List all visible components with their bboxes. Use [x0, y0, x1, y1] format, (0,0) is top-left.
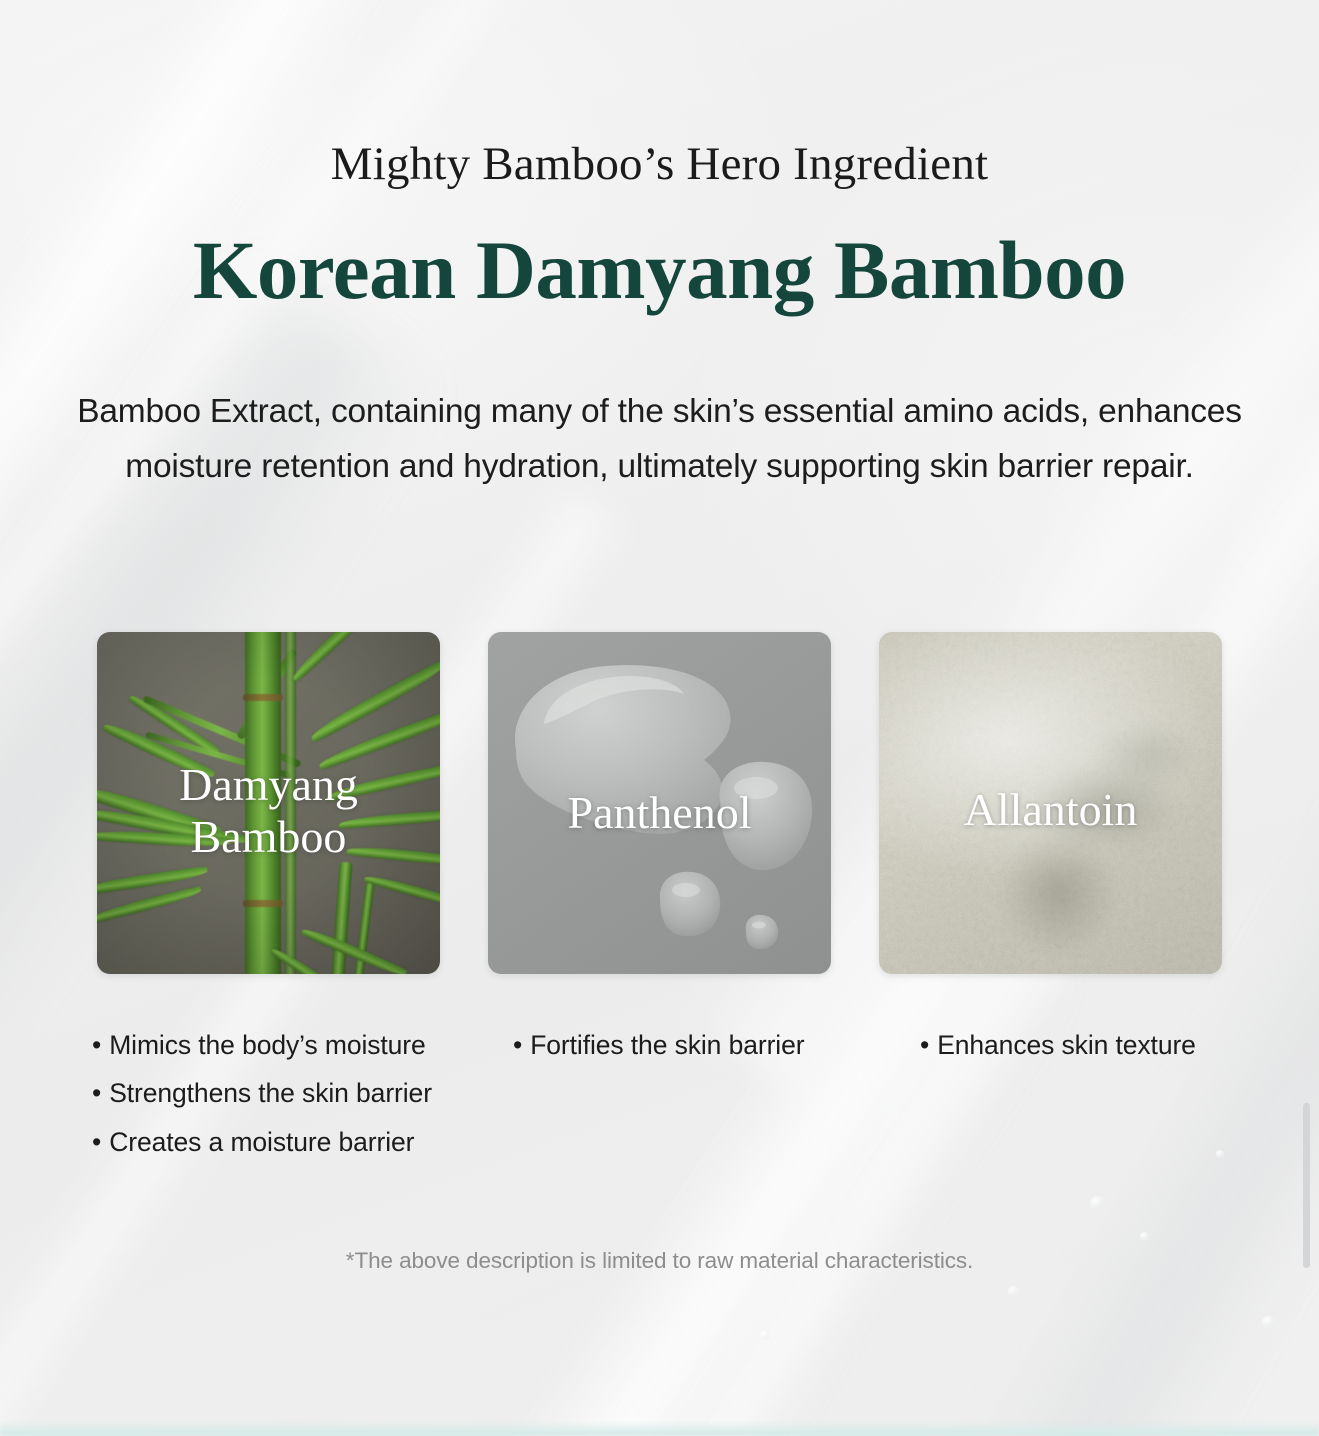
ingredient-card-row: Damyang Bamboo — [97, 632, 1223, 974]
list-item-label: Mimics the body’s moisture — [109, 1030, 426, 1060]
card-label-line1: Allantoin — [879, 784, 1222, 836]
ingredient-card-damyang-bamboo[interactable]: Damyang Bamboo — [97, 632, 440, 974]
card-label-line1: Damyang — [97, 759, 440, 811]
list-item: •Strengthens the skin barrier — [92, 1069, 432, 1117]
card-label-panthenol: Panthenol — [488, 787, 831, 839]
list-item: •Enhances skin texture — [920, 1021, 1196, 1069]
ingredient-card-allantoin[interactable]: Allantoin — [879, 632, 1222, 974]
card-label-damyang-bamboo: Damyang Bamboo — [97, 759, 440, 862]
list-item: •Creates a moisture barrier — [92, 1118, 432, 1166]
list-item-label: Fortifies the skin barrier — [530, 1030, 804, 1060]
benefit-list-allantoin: •Enhances skin texture — [920, 1021, 1196, 1069]
ingredient-card-panthenol[interactable]: Panthenol — [488, 632, 831, 974]
benefit-list-panthenol: •Fortifies the skin barrier — [513, 1021, 804, 1069]
disclaimer-footnote: *The above description is limited to raw… — [0, 1248, 1319, 1274]
list-item-label: Strengthens the skin barrier — [109, 1078, 432, 1108]
ingredient-section: Mighty Bamboo’s Hero Ingredient Korean D… — [0, 0, 1319, 1436]
bullet-marker: • — [92, 1078, 101, 1108]
card-label-allantoin: Allantoin — [879, 784, 1222, 836]
card-label-line1: Panthenol — [488, 787, 831, 839]
bullet-marker: • — [92, 1030, 101, 1060]
section-description: Bamboo Extract, containing many of the s… — [60, 385, 1259, 494]
card-label-line2: Bamboo — [97, 811, 440, 863]
bullet-marker: • — [92, 1127, 101, 1157]
list-item-label: Enhances skin texture — [937, 1030, 1196, 1060]
list-item: •Mimics the body’s moisture — [92, 1021, 432, 1069]
bullet-marker: • — [920, 1030, 929, 1060]
list-item: •Fortifies the skin barrier — [513, 1021, 804, 1069]
bullet-marker: • — [513, 1030, 522, 1060]
page-scrollbar-thumb[interactable] — [1303, 1103, 1310, 1268]
page-title: Korean Damyang Bamboo — [0, 226, 1319, 316]
list-item-label: Creates a moisture barrier — [109, 1127, 414, 1157]
benefit-list-damyang-bamboo: •Mimics the body’s moisture •Strengthens… — [92, 1021, 432, 1166]
section-eyebrow: Mighty Bamboo’s Hero Ingredient — [0, 139, 1319, 190]
